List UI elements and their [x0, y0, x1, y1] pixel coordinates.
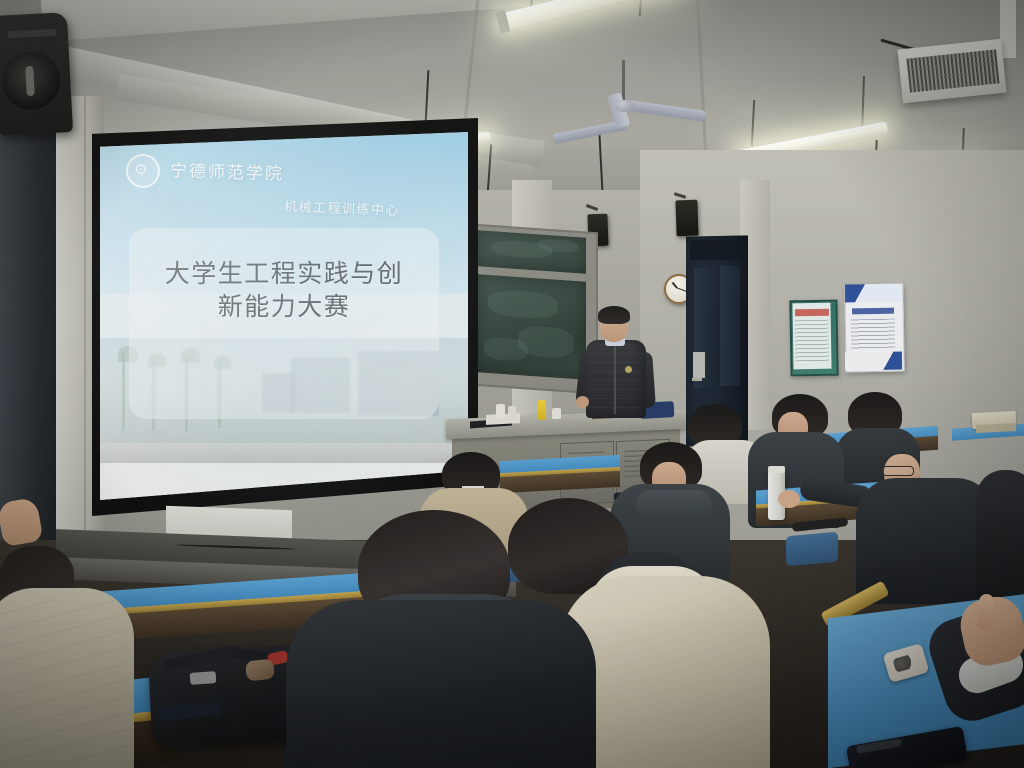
paper-cup — [552, 408, 561, 419]
notice-board-green-title — [795, 309, 829, 317]
paper-cup — [508, 406, 516, 418]
chalkboard-upper-panel — [478, 230, 586, 274]
paper-cup — [496, 404, 505, 418]
notice-board-blue-text — [851, 319, 896, 350]
door-sign — [693, 352, 705, 378]
chair-back — [786, 532, 838, 567]
slide-photo-walkway — [100, 443, 468, 463]
presenter-jacket-quilting — [588, 344, 644, 414]
student-jacket — [976, 470, 1024, 600]
notice-board-blue-footer — [845, 352, 902, 371]
backpack-tag — [190, 671, 217, 685]
chalkboard-main-panel — [478, 274, 586, 380]
puffer-jacket-quilting — [0, 600, 128, 760]
yellow-bottle — [538, 400, 546, 420]
slide-title: 大学生工程实践与创 新能力大赛 — [129, 257, 438, 323]
wall-speaker-board-2 — [675, 200, 698, 237]
notice-board-blue-title — [852, 308, 894, 315]
notice-board-blue-header — [845, 284, 902, 303]
student-jacket — [286, 600, 596, 768]
glasses-icon — [882, 466, 914, 476]
projection-screen-surface: ⊙ 宁德师范学院 机械工程训练中心 大学生工程实践与创 新能力大赛 — [100, 132, 468, 500]
presenter-jacket-zipper — [614, 344, 616, 414]
notice-board-green-text — [795, 320, 830, 365]
slide-university-name: 宁德师范学院 — [170, 156, 285, 184]
student-hand — [778, 490, 800, 508]
door-handle[interactable] — [692, 378, 702, 381]
wall-column-seam — [84, 96, 86, 596]
presenter-hair — [598, 306, 630, 324]
door-panel — [720, 266, 740, 386]
classroom-photo-scene: ⊙ 宁德师范学院 机械工程训练中心 大学生工程实践与创 新能力大赛 — [0, 0, 1024, 768]
presenter-badge — [625, 366, 632, 373]
projector-mount — [1000, 0, 1016, 58]
thermos-cap — [768, 466, 785, 473]
ceiling-fan-rod — [622, 60, 625, 102]
ceiling-fan-hub — [614, 100, 634, 112]
door-transom-window — [690, 239, 744, 260]
university-logo-glyph: ⊙ — [126, 154, 156, 184]
speaker-port-slot — [25, 66, 35, 96]
presenter-hand — [576, 396, 589, 408]
backpack-charm — [245, 659, 275, 682]
student-scarf — [636, 490, 712, 520]
slide-title-line-2: 新能力大赛 — [129, 290, 438, 323]
slide-title-line-1: 大学生工程实践与创 — [129, 257, 438, 290]
